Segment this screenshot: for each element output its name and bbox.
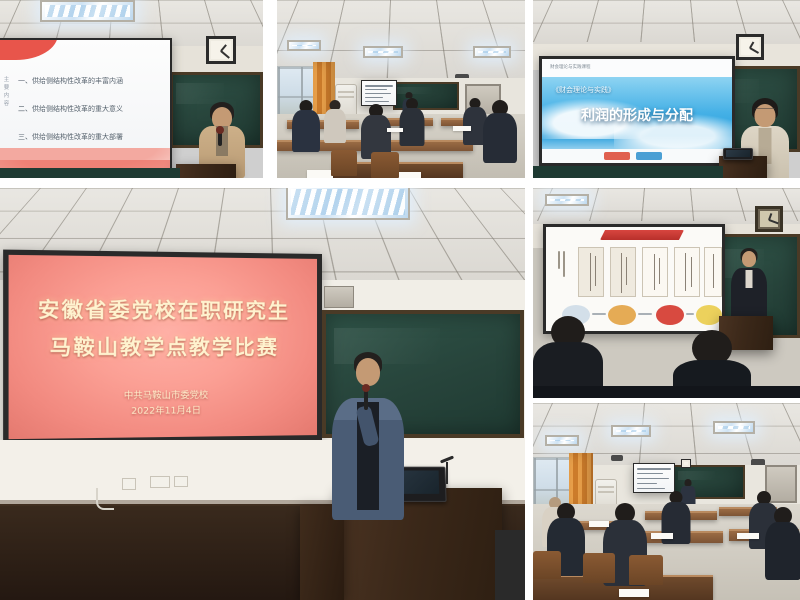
slide-button-start [604,152,630,160]
title-line-2: 马鞍山教学点教学比赛 [9,330,317,360]
audience-member [399,98,425,144]
panel-top-left: 主 要 内 容 一、供给侧结构性改革的丰富内涵 二、供给侧结构性改革的重大意义 … [0,0,263,178]
wall-clock [681,459,691,468]
slide-card [704,247,722,297]
audience-member [291,100,321,150]
panel-top-right: 财会理论与实践课程 《财会理论与实践》 利润的形成与分配 [533,0,800,178]
projection-screen [361,80,397,106]
panel-top-middle [277,0,525,178]
title-line-1: 安徽省委党校在职研究生 [9,293,317,324]
projection-screen-outline: 主 要 内 容 一、供给侧结构性改革的丰富内涵 二、供给侧结构性改革的重大意义 … [0,38,172,170]
slide-circle [608,305,636,325]
audience-member [765,507,800,577]
projection-screen [633,463,675,493]
slide-outline-item-3: 三、供给侧结构性改革的重大部署 [18,132,123,142]
slide-ribbon [600,230,684,240]
slide-header-text: 财会理论与实践课程 [550,64,591,70]
projection-screen-profit: 财会理论与实践课程 《财会理论与实践》 利润的形成与分配 [539,56,735,166]
slide-card [578,247,604,297]
projection-screen-title: 安徽省委党校在职研究生 马鞍山教学点教学比赛 中共马鞍山市委党校 2022年11… [3,250,322,445]
slide-side-label: 主 要 内 容 [2,76,11,108]
microphone [364,388,368,410]
microphone [218,130,222,146]
presenter-main [330,354,406,522]
slide-bracket-title: 《财会理论与实践》 [552,85,615,95]
slide-card [674,247,700,297]
title-org: 中共马鞍山市委党校 [9,387,317,402]
panel-main: 安徽省委党校在职研究生 马鞍山教学点教学比赛 中共马鞍山市委党校 2022年11… [0,188,525,600]
slide-card [610,247,636,297]
slide-outline-item-2: 二、供给侧结构性改革的重大意义 [18,104,123,114]
wall-clock [736,34,764,60]
audience-member [323,100,347,142]
slide-outline-item-1: 一、供给侧结构性改革的丰富内涵 [18,76,123,86]
slide-button-toc [636,152,662,160]
panel-mid-right [533,188,800,398]
audience-member [483,100,517,160]
title-date: 2022年11月4日 [9,402,317,418]
ceiling-light [286,188,410,220]
slide-circle [656,305,684,325]
photo-collage: 主 要 内 容 一、供给侧结构性改革的丰富内涵 二、供给侧结构性改革的重大意义 … [0,0,800,600]
slide-main-title: 利润的形成与分配 [542,105,732,125]
panel-bottom-right [533,403,800,600]
wall-clock [206,36,236,64]
wall-clock [755,206,783,232]
slide-card [642,247,668,297]
